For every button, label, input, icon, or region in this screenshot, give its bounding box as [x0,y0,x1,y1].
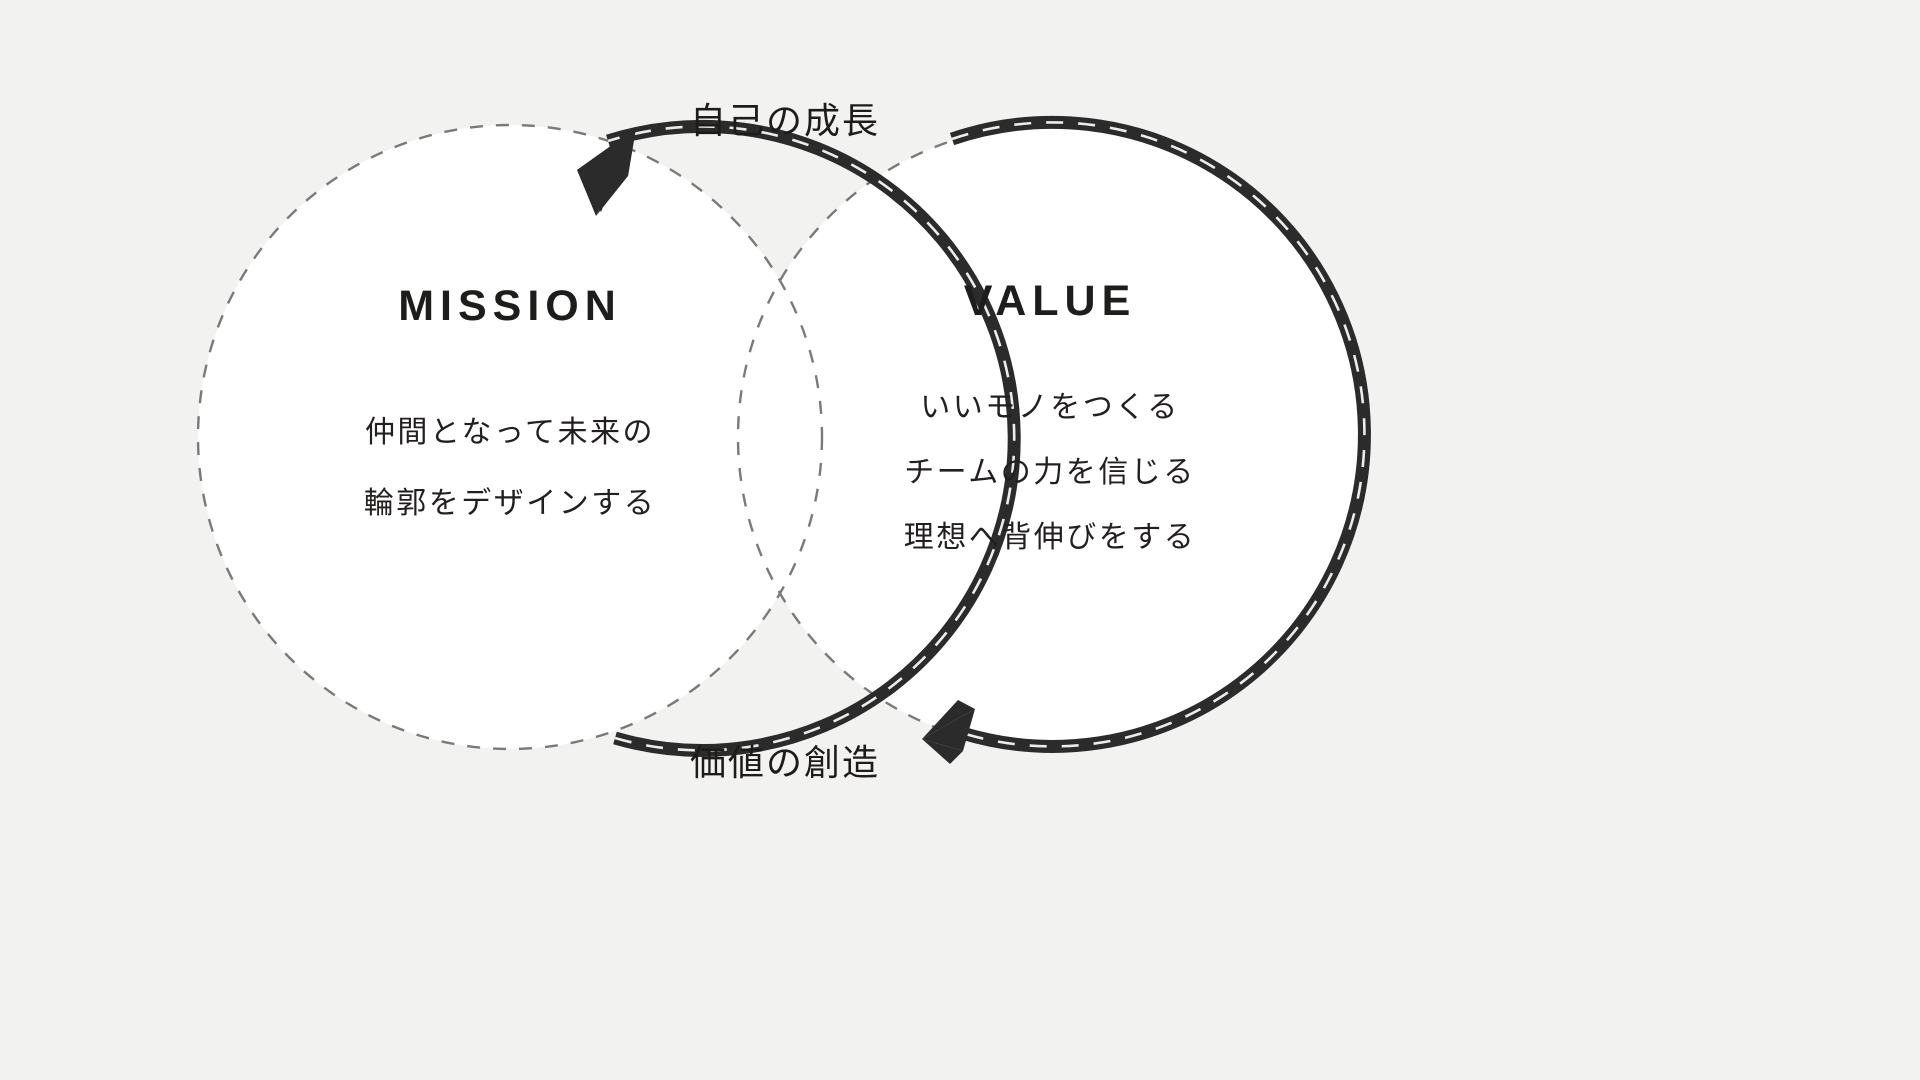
value-body-line: チームの力を信じる [750,458,1350,488]
mission-heading: MISSION [210,285,810,328]
mission-body-line: 輪郭をデザインする [210,489,810,519]
flow-label-top: 自己の成長 [585,103,985,139]
value-body-line: 理想へ背伸びをする [750,523,1350,553]
diagram-canvas: MISSION 仲間となって未来の 輪郭をデザインする VALUE いいモノをつ… [0,0,1920,1080]
flow-label-bottom: 価値の創造 [585,745,985,781]
mission-body-line: 仲間となって未来の [210,418,810,448]
value-body-line: いいモノをつくる [750,393,1350,423]
value-body: いいモノをつくる チームの力を信じる 理想へ背伸びをする [750,393,1350,553]
value-heading: VALUE [750,280,1350,323]
mission-body: 仲間となって未来の 輪郭をデザインする [210,418,810,519]
